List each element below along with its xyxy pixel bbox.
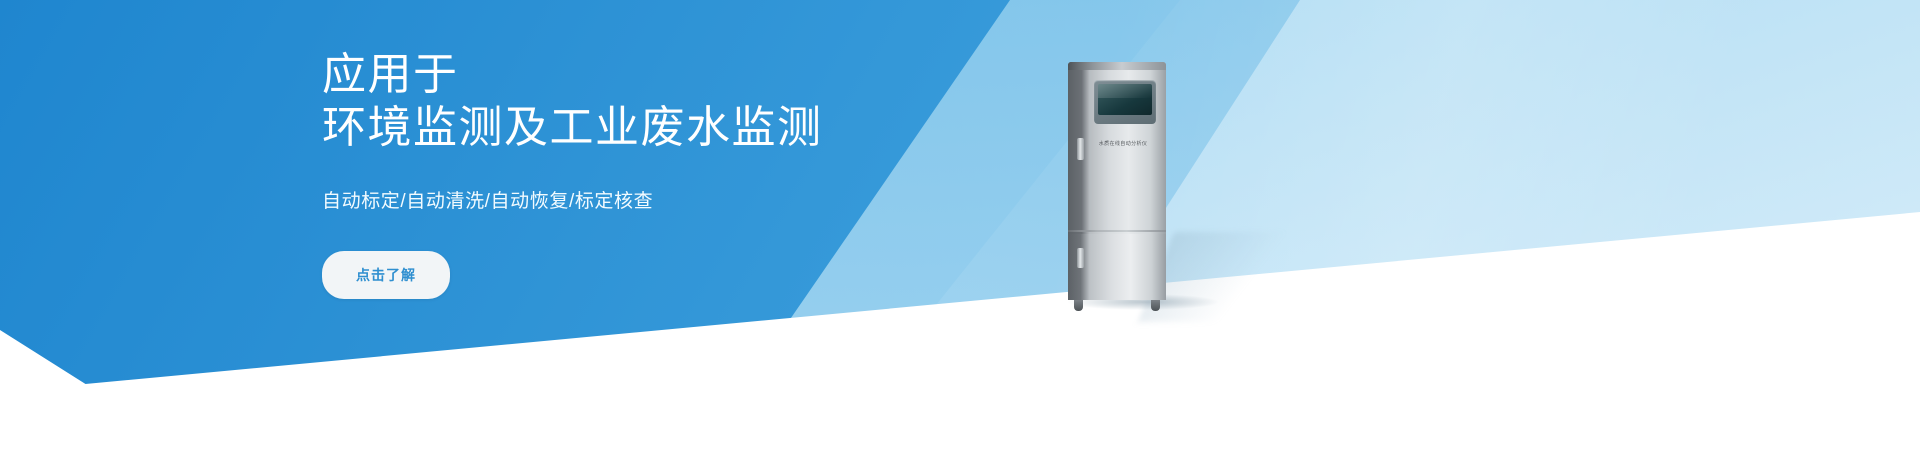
device-screen-glare — [1098, 84, 1152, 98]
analyzer-device-illustration: 水质在线自动分析仪 — [1060, 62, 1250, 322]
hero-cta-wrapper: 点击了解 — [322, 213, 1082, 299]
device-top-cap — [1068, 62, 1166, 70]
device-cabinet-seam — [1068, 230, 1166, 232]
hero-banner: 应用于 环境监测及工业废水监测 自动标定/自动清洗/自动恢复/标定核查 点击了解… — [0, 0, 1920, 450]
device-screen-bezel — [1094, 80, 1156, 124]
hero-headline-line-2: 环境监测及工业废水监测 — [322, 101, 1082, 154]
device-foot-right — [1151, 300, 1160, 311]
hero-headline-line-1: 应用于 — [322, 48, 1082, 101]
device-panel-label: 水质在线自动分析仪 — [1080, 140, 1166, 147]
learn-more-button[interactable]: 点击了解 — [322, 251, 450, 299]
hero-subtitle: 自动标定/自动清洗/自动恢复/标定核查 — [322, 186, 1082, 213]
hero-content: 应用于 环境监测及工业废水监测 自动标定/自动清洗/自动恢复/标定核查 点击了解 — [322, 48, 1082, 299]
device-lower-door-handle — [1077, 248, 1084, 268]
device-foot-left — [1074, 300, 1083, 311]
